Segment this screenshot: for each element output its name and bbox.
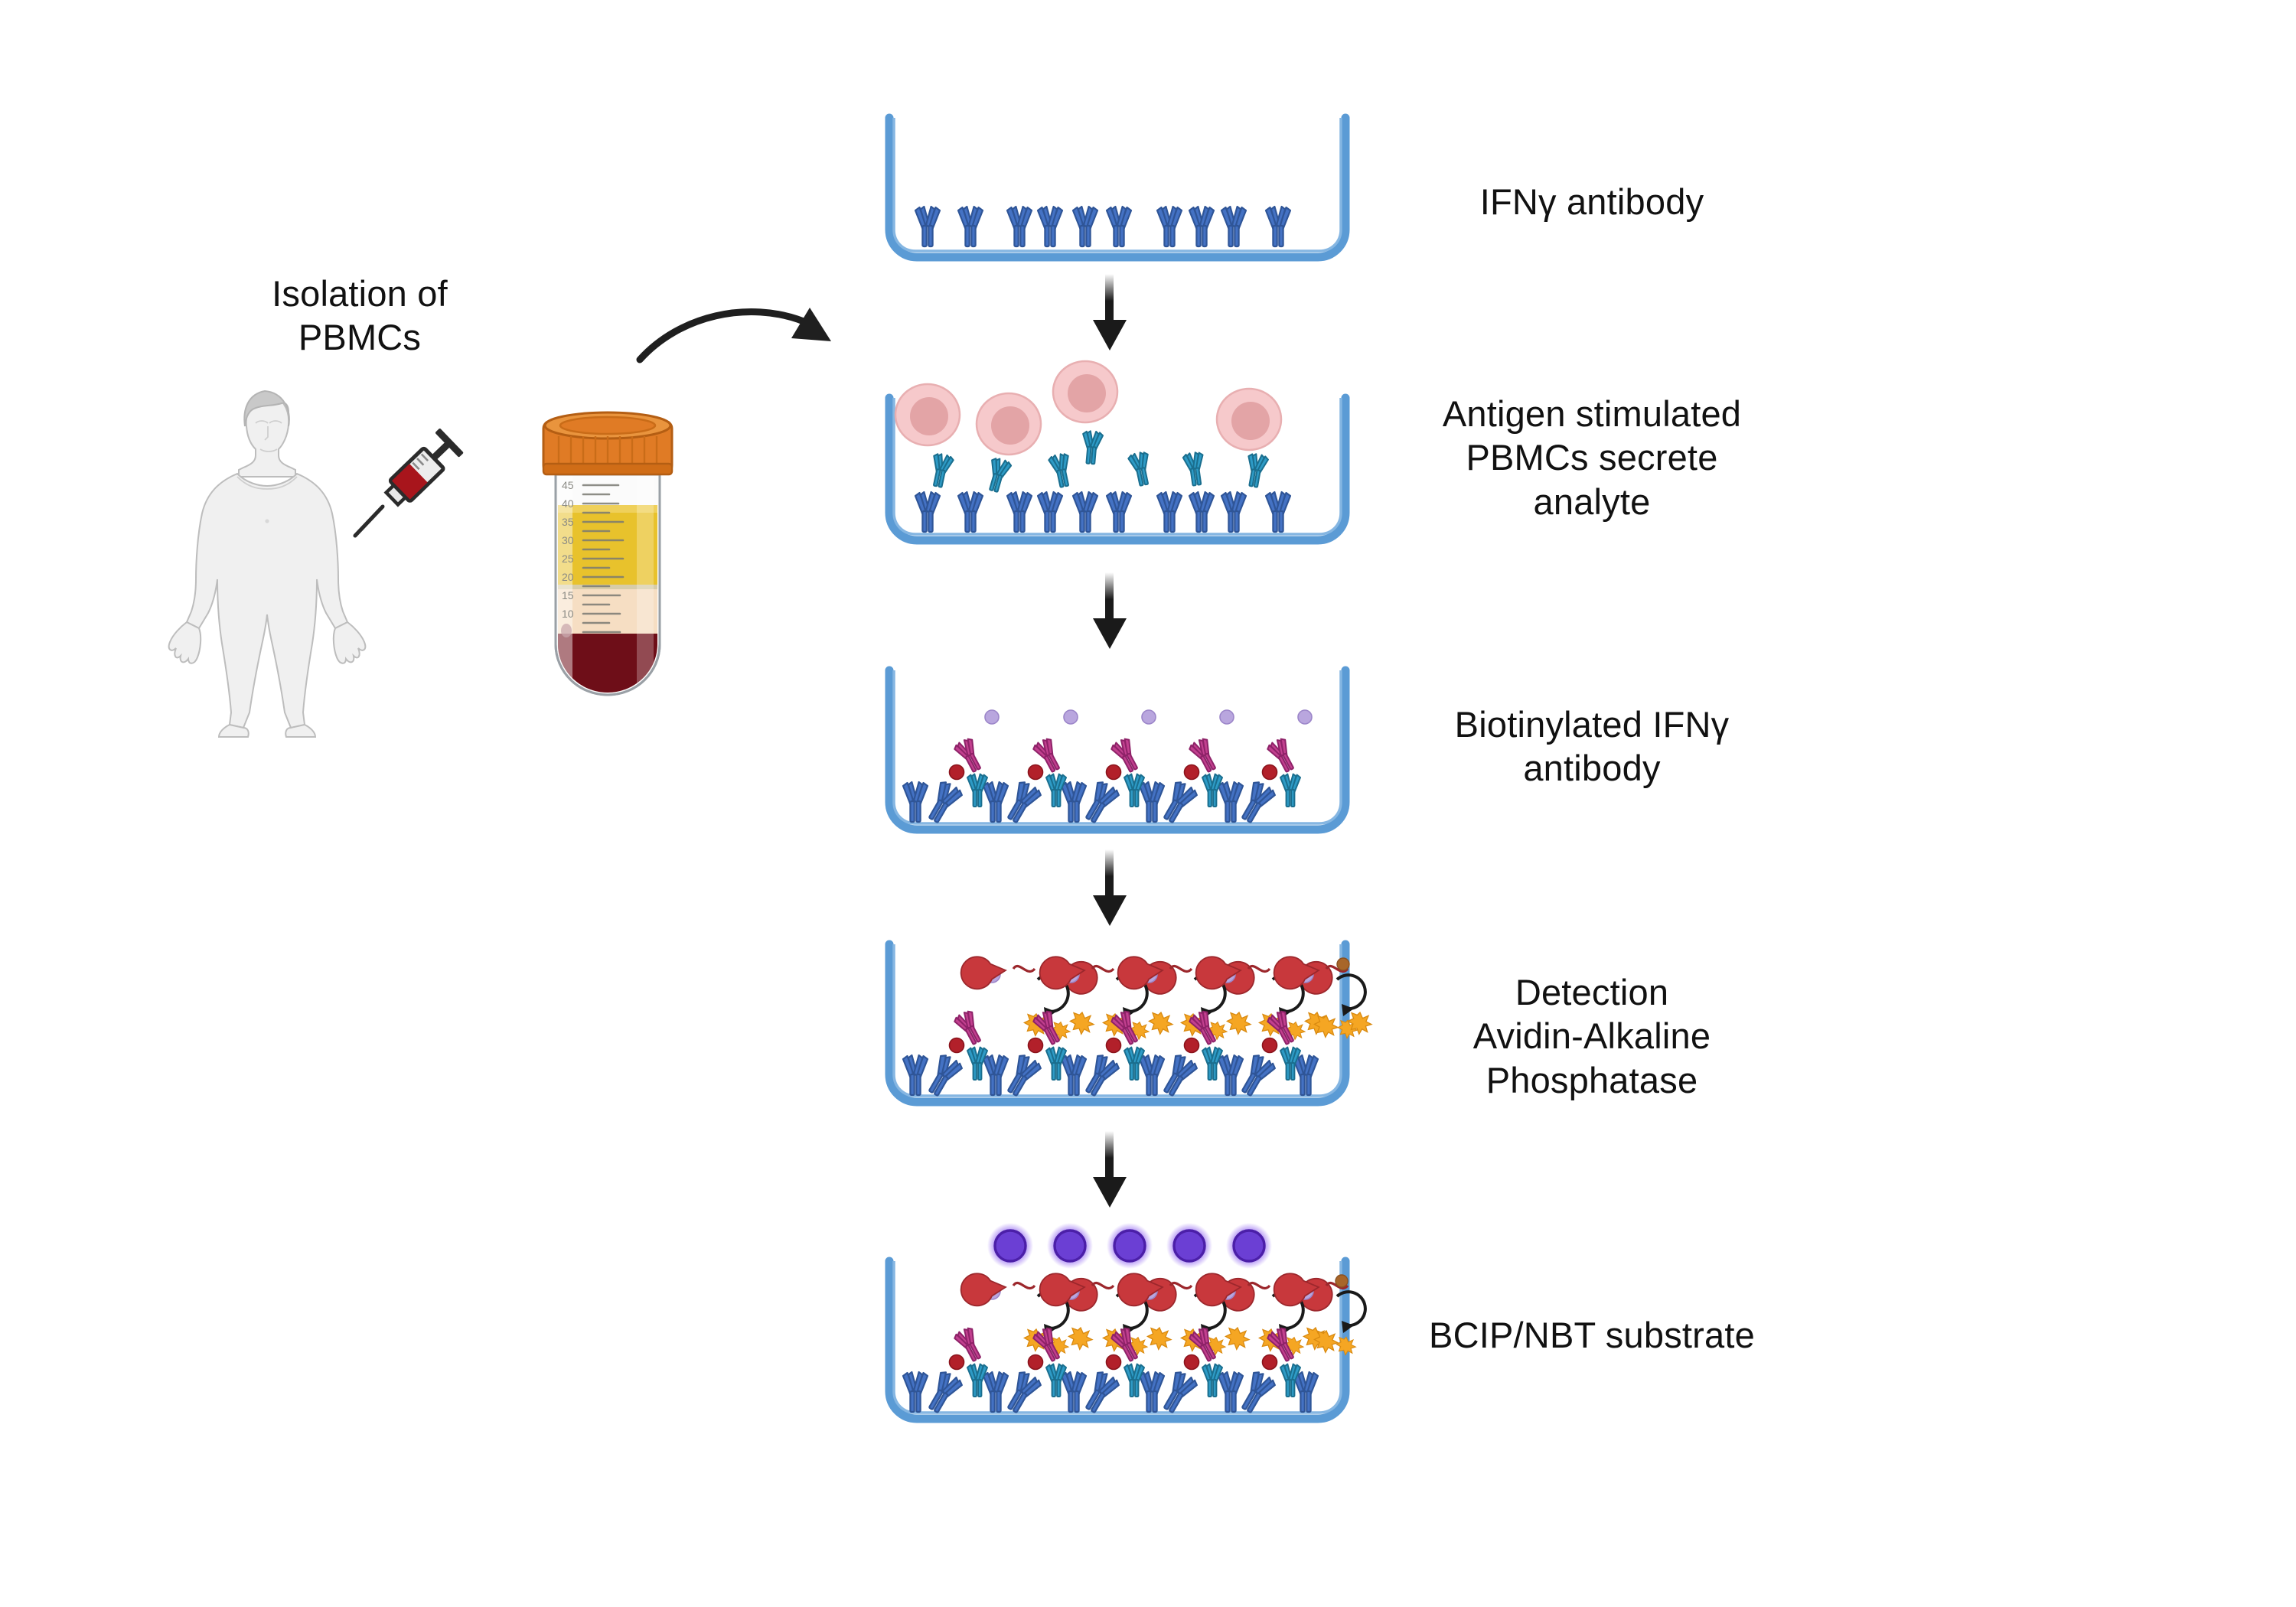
step-3-label-line-2: antibody [1355, 746, 1829, 790]
step-1-label: IFNγ antibody [1370, 180, 1814, 223]
bcip-nbt-spots [987, 1223, 1272, 1269]
tube-cap-icon [543, 412, 672, 474]
detection-complexes [923, 1271, 1365, 1416]
step-2-label: Antigen stimulated PBMCs secrete analyte [1355, 392, 1829, 523]
isolation-label: Isolation of PBMCs [199, 272, 520, 360]
svg-text:20: 20 [562, 571, 574, 583]
svg-text:45: 45 [562, 479, 574, 491]
step-4-label-line-3: Phosphatase [1355, 1058, 1829, 1102]
curved-arrow-icon [634, 282, 871, 389]
step-4-label: Detection Avidin-Alkaline Phosphatase [1355, 970, 1829, 1102]
down-arrow-icon [1085, 1131, 1134, 1211]
svg-text:15: 15 [562, 589, 574, 601]
svg-text:30: 30 [562, 534, 574, 546]
step-4-label-line-2: Avidin-Alkaline [1355, 1014, 1829, 1058]
step-3-label-line-1: Biotinylated IFNγ [1355, 702, 1829, 746]
well-biotinylated-ifng-antibody [880, 667, 1355, 843]
step-5-label-line-1: BCIP/NBT substrate [1355, 1313, 1829, 1357]
capture-antibody-row [915, 207, 1290, 246]
svg-text:10: 10 [562, 608, 574, 620]
step-3-label: Biotinylated IFNγ antibody [1355, 702, 1829, 790]
secreted-analyte-antibodies [928, 430, 1268, 494]
sandwich-complexes [923, 710, 1312, 826]
blood-collection-tube-icon: 45 40 35 30 25 20 15 10 [539, 410, 677, 710]
step-2-label-line-1: Antigen stimulated [1355, 392, 1829, 435]
isolation-label-line2: PBMCs [199, 315, 520, 359]
well-ifng-antibody [880, 115, 1355, 268]
capture-antibody-row [915, 492, 1290, 532]
down-arrow-icon [1085, 849, 1134, 929]
isolation-label-line1: Isolation of [199, 272, 520, 315]
down-arrow-icon [1085, 274, 1134, 354]
well-detection-avidin-alkaline-phosphatase [880, 932, 1355, 1116]
svg-text:35: 35 [562, 516, 574, 528]
blood-syringe-icon [349, 421, 479, 543]
well-bcip-nbt-substrate [880, 1214, 1355, 1436]
svg-text:40: 40 [562, 497, 574, 510]
step-4-label-line-1: Detection [1355, 970, 1829, 1014]
step-5-label: BCIP/NBT substrate [1355, 1313, 1829, 1357]
figure-canvas: Isolation of PBMCs [0, 0, 2296, 1607]
well-antigen-stimulated-pbmcs [880, 360, 1355, 559]
step-2-label-line-3: analyte [1355, 480, 1829, 523]
step-1-label-line-1: IFNγ antibody [1370, 180, 1814, 223]
down-arrow-icon [1085, 572, 1134, 652]
svg-text:25: 25 [562, 553, 574, 565]
step-2-label-line-2: PBMCs secrete [1355, 435, 1829, 479]
